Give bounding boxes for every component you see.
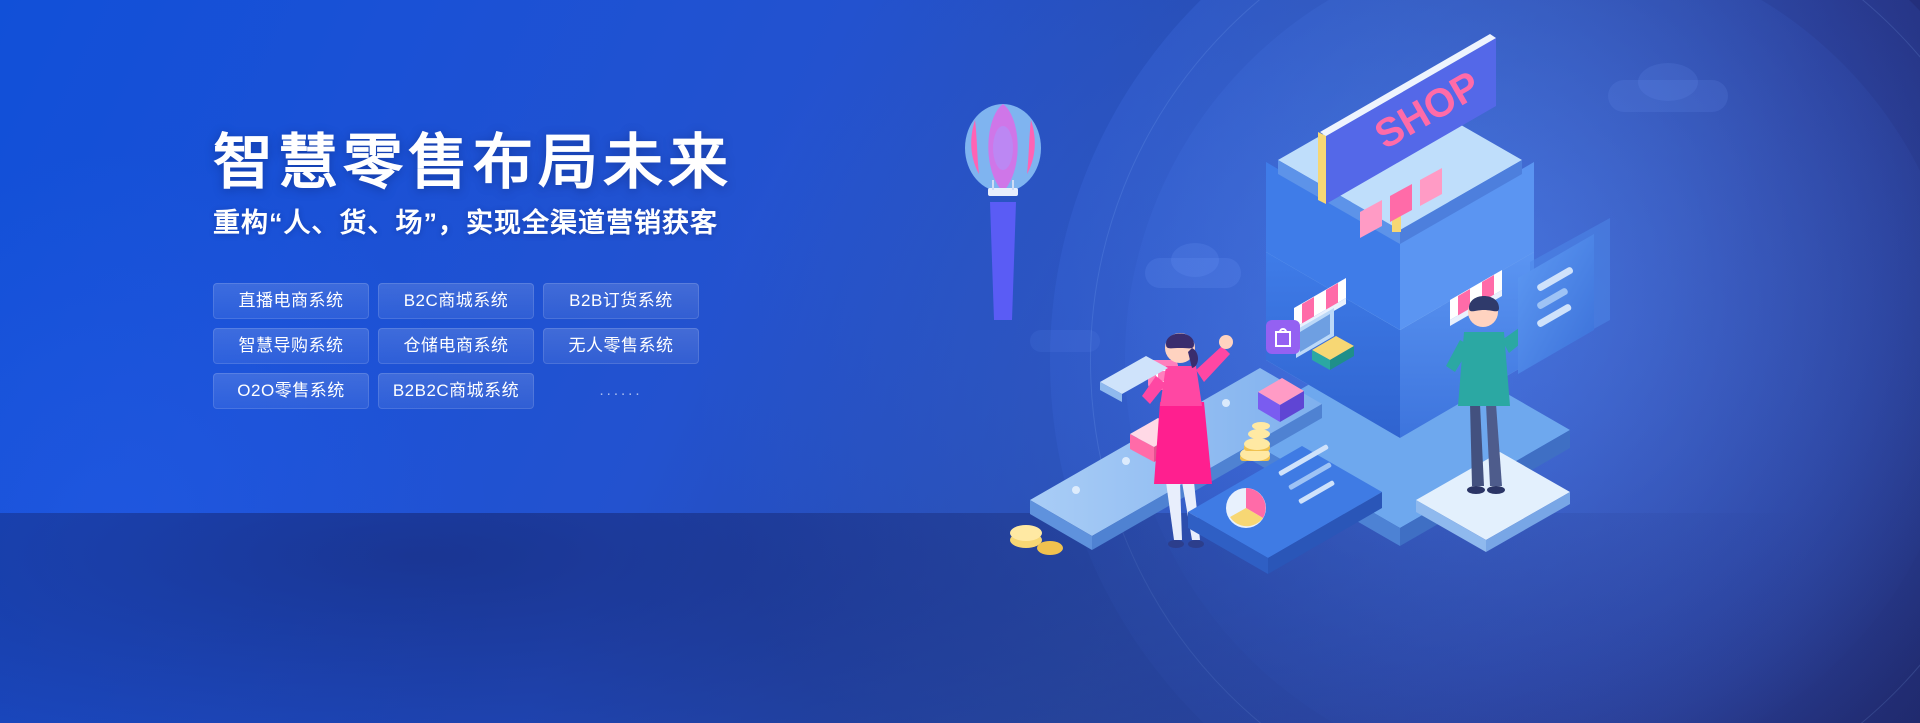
product-tag-o2o-retail[interactable]: O2O零售系统: [213, 373, 369, 409]
product-tag-warehouse-commerce[interactable]: 仓储电商系统: [378, 328, 534, 364]
product-tag-smart-guide[interactable]: 智慧导购系统: [213, 328, 369, 364]
shopping-bag-icon: [1266, 320, 1300, 354]
page-subtitle: 重构“人、货、场”，实现全渠道营销获客: [213, 205, 913, 243]
retail-isometric-illustration: SHOP: [930, 30, 1610, 630]
product-tag-live-commerce[interactable]: 直播电商系统: [213, 283, 369, 319]
product-tag-unmanned-retail[interactable]: 无人零售系统: [543, 328, 699, 364]
cloud-icon: [1608, 80, 1728, 112]
page-title: 智慧零售布局未来: [213, 128, 913, 199]
product-tag-more: ......: [543, 373, 699, 409]
coin-stack: [1010, 525, 1063, 555]
hero-banner: 智慧零售布局未来 重构“人、货、场”，实现全渠道营销获客 直播电商系统 B2C商…: [0, 0, 1920, 723]
hero-copy: 智慧零售布局未来 重构“人、货、场”，实现全渠道营销获客 直播电商系统 B2C商…: [213, 128, 913, 418]
product-tag-row: O2O零售系统 B2B2C商城系统 ......: [213, 373, 913, 409]
product-tag-b2b-ordering[interactable]: B2B订货系统: [543, 283, 699, 319]
product-tag-b2b2c-mall[interactable]: B2B2C商城系统: [378, 373, 534, 409]
product-tag-b2c-mall[interactable]: B2C商城系统: [378, 283, 534, 319]
product-tag-grid: 直播电商系统 B2C商城系统 B2B订货系统 智慧导购系统 仓储电商系统 无人零…: [213, 283, 913, 409]
product-tag-row: 智慧导购系统 仓储电商系统 无人零售系统: [213, 328, 913, 364]
hot-air-balloon-icon: [965, 104, 1041, 320]
product-tag-row: 直播电商系统 B2C商城系统 B2B订货系统: [213, 283, 913, 319]
